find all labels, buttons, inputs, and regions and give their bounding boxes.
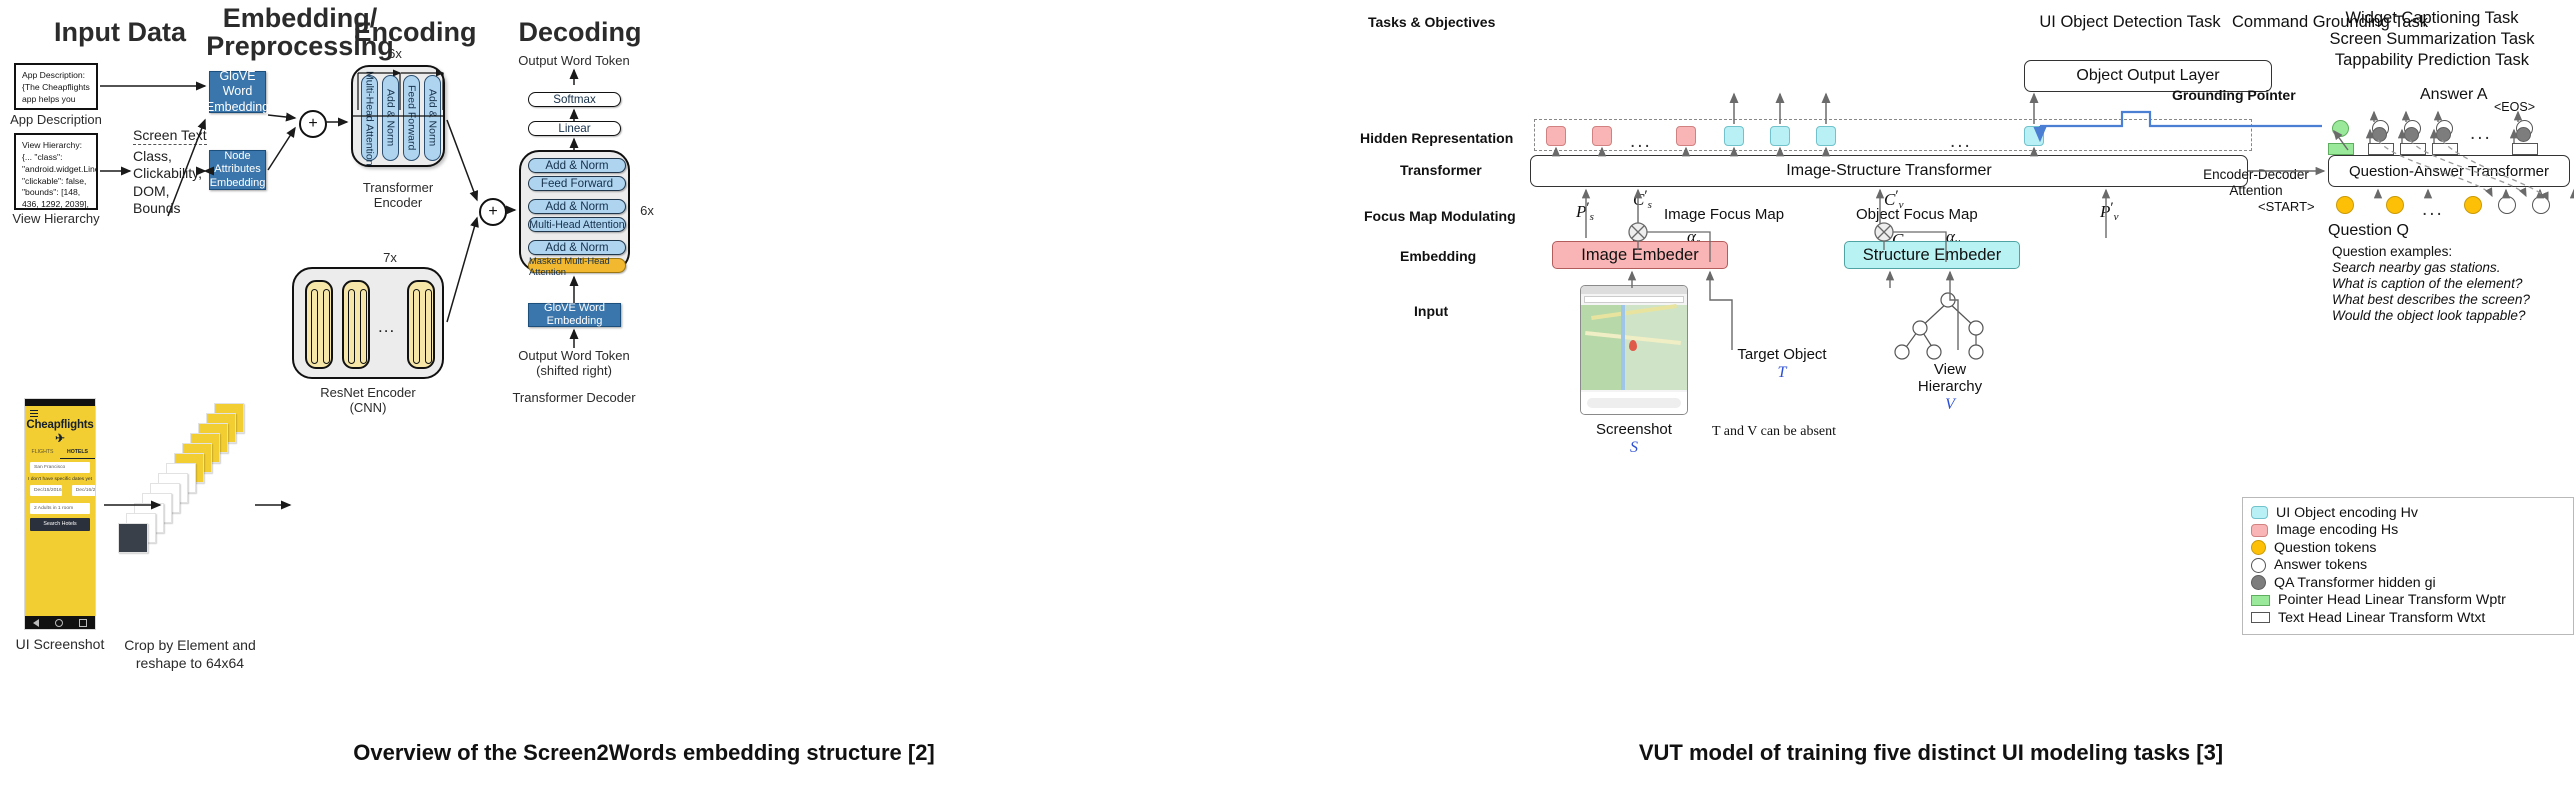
question-example-0: Search nearby gas stations. bbox=[2332, 259, 2501, 276]
right-figure-caption: VUT model of training five distinct UI m… bbox=[1288, 740, 2574, 766]
decoder-block-addnorm-2: Add & Norm bbox=[528, 199, 626, 214]
legend-text-image-encoding: Image encoding Hs bbox=[2276, 522, 2398, 538]
qa-hidden-1 bbox=[2404, 127, 2419, 142]
hidden-token-object-2 bbox=[1816, 126, 1836, 146]
view-hierarchy-tree bbox=[1890, 288, 2010, 358]
resnet-block-1 bbox=[342, 280, 370, 369]
legend-box: UI Object encoding Hv Image encoding Hs … bbox=[2242, 497, 2574, 635]
text-head-rect-0 bbox=[2368, 143, 2394, 155]
sum-node-decoder: + bbox=[479, 198, 507, 226]
transformer-decoder-label: Transformer Decoder bbox=[508, 390, 640, 405]
math-pv-prime: P′v bbox=[2100, 200, 2119, 223]
decoder-block-addnorm-1: Add & Norm bbox=[528, 240, 626, 255]
input-view-hierarchy-symbol: V bbox=[1890, 394, 2010, 415]
screen-text-underline bbox=[133, 144, 207, 145]
node-attr-line-2: DOM, bbox=[133, 183, 202, 200]
encoder-block-mha: Multi-Head Attention bbox=[361, 75, 378, 161]
hidden-token-image-0 bbox=[1546, 126, 1566, 146]
image-structure-transformer: Image-Structure Transformer bbox=[1530, 155, 2248, 187]
phone-tabs: FLIGHTS HOTELS bbox=[25, 449, 95, 459]
question-title: Question Q bbox=[2328, 222, 2409, 240]
encoder-decoder-attention-line-2: Attention bbox=[2186, 182, 2326, 200]
input-screenshot-symbol: S bbox=[1564, 437, 1704, 458]
answer-input-token-1 bbox=[2532, 196, 2550, 214]
row-label-tasks: Tasks & Objectives bbox=[1368, 14, 1495, 30]
resnet-encoder-label: ResNet Encoder bbox=[308, 385, 428, 400]
answer-label: Answer A bbox=[2420, 86, 2488, 104]
decoder-output-token-bottom-2: (shifted right) bbox=[508, 363, 640, 378]
question-example-1: What is caption of the element? bbox=[2332, 275, 2522, 292]
hidden-token-object-3 bbox=[2024, 126, 2044, 146]
legend-row-ui-object: UI Object encoding Hv bbox=[2251, 504, 2565, 522]
eos-label: <EOS> bbox=[2494, 100, 2535, 114]
decoder-glove-box: GloVE Word Embedding bbox=[528, 303, 621, 327]
phone-status-bar bbox=[25, 399, 95, 406]
question-token-0 bbox=[2336, 196, 2354, 214]
glove-word-embedding-box: GloVE Word Embedding bbox=[209, 71, 266, 113]
glove-word-embedding-label: GloVE Word Embedding bbox=[206, 69, 269, 115]
text-head-rect-3 bbox=[2512, 143, 2538, 155]
legend-text-answer-tokens: Answer tokens bbox=[2274, 557, 2367, 573]
math-ps-prime: P′s bbox=[1576, 200, 1594, 223]
encoder-block-ff: Feed Forward bbox=[403, 75, 420, 161]
resnet-cnn-label: (CNN) bbox=[308, 400, 428, 415]
hidden-token-object-1 bbox=[1770, 126, 1790, 146]
structure-embedder-box: Structure Embeder bbox=[1844, 241, 2020, 269]
row-label-input: Input bbox=[1414, 303, 1448, 319]
screen-text-label: Screen Text bbox=[133, 127, 207, 143]
node-attributes-label: Class, Clickability, DOM, Bounds bbox=[133, 148, 202, 217]
decoder-block-addnorm-3: Add & Norm bbox=[528, 158, 626, 173]
legend-swatch-answer-tokens bbox=[2251, 558, 2266, 573]
pointer-head-rect bbox=[2328, 143, 2354, 155]
inputs-absent-note: T and V can be absent bbox=[1712, 424, 1836, 440]
decoder-repeat-label: 6x bbox=[634, 203, 660, 218]
legend-swatch-pointer-head bbox=[2251, 595, 2270, 606]
legend-row-qa-hidden: QA Transformer hidden gi bbox=[2251, 574, 2565, 592]
view-hierarchy-label: View Hierarchy bbox=[4, 211, 108, 226]
recents-icon[interactable] bbox=[79, 619, 87, 627]
question-example-2: What best describes the screen? bbox=[2332, 291, 2530, 308]
decoder-softmax: Softmax bbox=[528, 92, 621, 107]
image-embedder-box: Image Embeder bbox=[1552, 241, 1728, 269]
sum-node-encoder: + bbox=[299, 110, 327, 138]
hamburger-icon[interactable] bbox=[30, 410, 38, 411]
node-attr-line-0: Class, bbox=[133, 148, 202, 165]
resnet-encoder-shell: ... bbox=[292, 267, 444, 379]
legend-text-qa-hidden: QA Transformer hidden gi bbox=[2274, 575, 2436, 591]
node-attr-line-3: Bounds bbox=[133, 200, 202, 217]
legend-text-question-tokens: Question tokens bbox=[2274, 540, 2377, 556]
row-label-focus-map: Focus Map Modulating bbox=[1364, 208, 1516, 224]
phone-nav-bar bbox=[25, 616, 95, 629]
decoder-block-mha: Multi-Head Attention bbox=[528, 217, 626, 232]
text-head-rect-2 bbox=[2432, 143, 2458, 155]
task-widget-captioning: Widget Captioning Task bbox=[2290, 8, 2574, 30]
encoder-block-addnorm-2: Add & Norm bbox=[424, 75, 441, 161]
legend-row-question-tokens: Question tokens bbox=[2251, 539, 2565, 557]
answer-tokens-ellipsis: ... bbox=[2470, 124, 2492, 143]
legend-row-answer-tokens: Answer tokens bbox=[2251, 557, 2565, 575]
row-label-hidden: Hidden Representation bbox=[1360, 130, 1513, 146]
resnet-block-2 bbox=[407, 280, 435, 369]
encoder-block-addnorm-1: Add & Norm bbox=[382, 75, 399, 161]
object-focus-map-label: Object Focus Map bbox=[1856, 206, 1978, 223]
resnet-ellipsis: ... bbox=[378, 317, 395, 337]
ui-screenshot-label: UI Screenshot bbox=[14, 636, 106, 652]
legend-text-text-head: Text Head Linear Transform Wtxt bbox=[2278, 610, 2485, 626]
search-hotels-button[interactable]: Search Hotels bbox=[30, 518, 90, 531]
transformer-encoder-shell: Multi-Head Attention Add & Norm Feed For… bbox=[351, 65, 445, 167]
node-attributes-embedding-box: Node Attributes Embedding bbox=[209, 150, 266, 190]
image-focus-map-label: Image Focus Map bbox=[1664, 206, 1784, 223]
guests-field[interactable]: 2 Adults in 1 room bbox=[30, 503, 90, 514]
start-token-label: <START> bbox=[2258, 199, 2315, 214]
legend-swatch-ui-object bbox=[2251, 506, 2268, 519]
question-answer-transformer: Question-Answer Transformer bbox=[2328, 155, 2570, 187]
decoder-block-masked-mha: Masked Multi-Head Attention bbox=[528, 258, 626, 273]
hidden-token-image-2 bbox=[1676, 126, 1696, 146]
grounding-pointer-node bbox=[2332, 120, 2349, 137]
plane-icon: ✈ bbox=[55, 433, 64, 445]
decoder-linear: Linear bbox=[528, 121, 621, 136]
grounding-pointer-label: Grounding Pointer bbox=[2172, 87, 2296, 103]
crop-label-line-1: Crop by Element and bbox=[100, 637, 280, 653]
question-tokens-ellipsis: ... bbox=[2422, 200, 2444, 219]
legend-row-text-head: Text Head Linear Transform Wtxt bbox=[2251, 609, 2565, 627]
hidden-token-object-0 bbox=[1724, 126, 1744, 146]
tab-hotels[interactable]: HOTELS bbox=[60, 449, 95, 459]
tab-flights[interactable]: FLIGHTS bbox=[25, 449, 60, 459]
app-description-label: App Description bbox=[4, 112, 108, 127]
qa-hidden-2 bbox=[2436, 127, 2451, 142]
node-attributes-embedding-label: Node Attributes Embedding bbox=[210, 150, 266, 190]
phone-brand-label: Cheapflights ✈ bbox=[25, 406, 95, 445]
location-field[interactable]: San Francisco bbox=[30, 462, 90, 473]
app-description-box: App Description: {The Cheapflights app h… bbox=[14, 63, 98, 110]
node-attr-line-1: Clickability, bbox=[133, 165, 202, 182]
no-dates-checkbox[interactable]: I don't have specific dates yet bbox=[25, 477, 95, 482]
ui-screenshot-phone: Cheapflights ✈ FLIGHTS HOTELS San Franci… bbox=[24, 398, 96, 630]
transformer-decoder-shell: Add & Norm Feed Forward Add & Norm Multi… bbox=[519, 150, 630, 272]
task-screen-summarization: Screen Summarization Task bbox=[2290, 29, 2574, 51]
crop-cascade bbox=[140, 395, 270, 635]
column-title-decoding: Decoding bbox=[460, 17, 700, 47]
input-screenshot-map bbox=[1580, 285, 1688, 415]
legend-text-pointer-head: Pointer Head Linear Transform Wptr bbox=[2278, 592, 2506, 608]
home-icon[interactable] bbox=[55, 619, 63, 627]
question-token-2 bbox=[2464, 196, 2482, 214]
transformer-encoder-label: Transformer Encoder bbox=[338, 180, 458, 210]
legend-row-pointer-head: Pointer Head Linear Transform Wptr bbox=[2251, 592, 2565, 610]
answer-input-token-0 bbox=[2498, 196, 2516, 214]
qa-hidden-0 bbox=[2372, 127, 2387, 142]
hidden-tokens-object-ellipsis: ... bbox=[1950, 132, 1972, 151]
left-figure-caption: Overview of the Screen2Words embedding s… bbox=[0, 740, 1288, 766]
legend-swatch-text-head bbox=[2251, 612, 2270, 623]
legend-swatch-question-tokens bbox=[2251, 540, 2266, 555]
crop-label-line-2: reshape to 64x64 bbox=[100, 655, 280, 671]
legend-swatch-image-encoding bbox=[2251, 524, 2268, 537]
date-from-field[interactable]: Dec/15/2016 bbox=[30, 485, 62, 496]
date-to-field[interactable]: Dec/16/2016 bbox=[72, 485, 96, 496]
qa-hidden-3 bbox=[2516, 127, 2531, 142]
decoder-output-token-top: Output Word Token bbox=[508, 53, 640, 68]
legend-swatch-qa-hidden bbox=[2251, 575, 2266, 590]
decoder-output-token-bottom-1: Output Word Token bbox=[508, 348, 640, 363]
decoder-block-ff: Feed Forward bbox=[528, 176, 626, 191]
question-example-3: Would the object look tappable? bbox=[2332, 307, 2525, 324]
legend-text-ui-object: UI Object encoding Hv bbox=[2276, 505, 2418, 521]
resnet-repeat-label: 7x bbox=[330, 250, 450, 265]
legend-row-image-encoding: Image encoding Hs bbox=[2251, 522, 2565, 540]
text-head-rect-1 bbox=[2400, 143, 2426, 155]
question-token-1 bbox=[2386, 196, 2404, 214]
view-hierarchy-box: View Hierarchy: {... "class": "android.w… bbox=[14, 133, 98, 210]
encoder-repeat-label: 6x bbox=[360, 46, 430, 61]
back-icon[interactable] bbox=[33, 619, 39, 627]
resnet-block-0 bbox=[305, 280, 333, 369]
row-label-transformer: Transformer bbox=[1400, 162, 1482, 178]
date-row: Dec/15/2016 Dec/16/2016 bbox=[25, 482, 95, 500]
math-cs-prime: C′s bbox=[1633, 188, 1652, 211]
decoder-glove-label: GloVE Word Embedding bbox=[529, 302, 620, 329]
question-examples-label: Question examples: bbox=[2332, 243, 2452, 260]
hidden-token-image-1 bbox=[1592, 126, 1612, 146]
hidden-tokens-image-ellipsis: ... bbox=[1630, 132, 1652, 151]
input-target-object-symbol: T bbox=[1712, 362, 1852, 383]
row-label-embedding: Embedding bbox=[1400, 248, 1476, 264]
task-tappability-prediction: Tappability Prediction Task bbox=[2290, 50, 2574, 72]
